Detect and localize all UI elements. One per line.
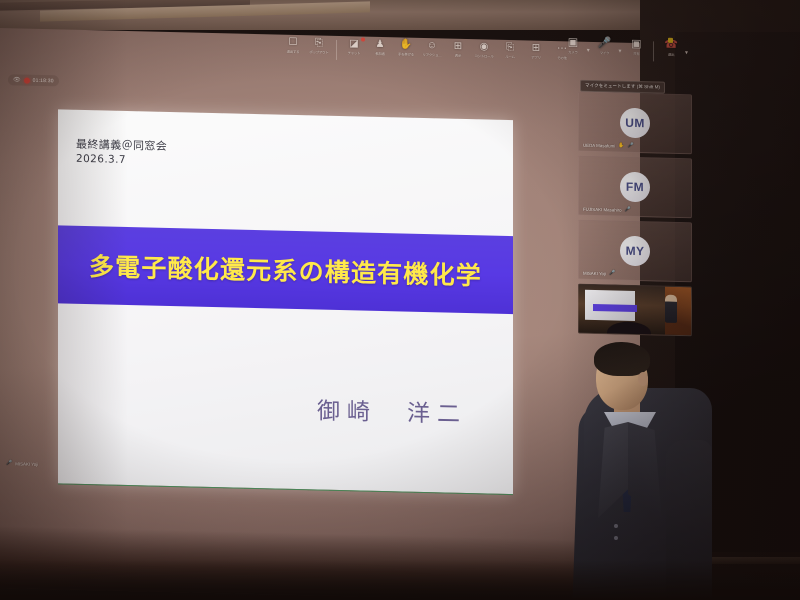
camera-icon: ▣ bbox=[568, 37, 578, 48]
mic-button[interactable]: 🎤 マイク bbox=[592, 38, 618, 69]
leave-call-label: 退出 bbox=[668, 53, 674, 57]
toolbar-divider-2 bbox=[653, 41, 654, 61]
room-screen-banner bbox=[593, 304, 637, 312]
mic-muted-icon: 🎤 bbox=[627, 143, 633, 149]
avatar: FM bbox=[620, 172, 650, 203]
participant-name-row: UEDA Masafumi ✋ 🎤 bbox=[583, 142, 634, 149]
apps-button[interactable]: ⊞ アプリ bbox=[523, 42, 549, 75]
toolbar-group-center[interactable]: ◪ チャット ♟ 参加者 ✋ 手を挙げる ☺ リアクショ… ⊞ 表示 bbox=[341, 38, 575, 76]
raise-hand-icon: ✋ bbox=[400, 39, 412, 50]
participant-tile-fujisaki[interactable]: FM FUJISAKI Masahiro 🎤 bbox=[578, 156, 692, 219]
mic-chevron-down-icon[interactable]: ▼ bbox=[618, 49, 623, 55]
people-icon: ♟ bbox=[376, 39, 385, 50]
presenter-button-upper bbox=[614, 524, 618, 528]
avatar: MY bbox=[620, 236, 650, 267]
participant-tile-ueda[interactable]: UM UEDA Masafumi ✋ 🎤 bbox=[578, 92, 692, 155]
apps-label: アプリ bbox=[531, 56, 541, 60]
shared-content-stage: 最終講義＠同窓会 2026.3.7 多電子酸化還元系の構造有機化学 御崎 洋二 bbox=[58, 109, 513, 495]
meeting-timer: 01:18:30 bbox=[33, 77, 54, 83]
participant-name: FUJISAKI Masahiro bbox=[583, 206, 622, 212]
slide-title: 多電子酸化還元系の構造有機化学 bbox=[89, 247, 482, 292]
leave-room-label: 退出する bbox=[287, 50, 300, 54]
slide-kicker: 最終講義＠同窓会 bbox=[76, 136, 167, 154]
apps-icon: ⊞ bbox=[532, 43, 540, 54]
share-button[interactable]: ▣ 共有 bbox=[623, 39, 649, 70]
rooms-icon: ⎘ bbox=[506, 42, 514, 53]
record-dot-icon bbox=[24, 77, 30, 83]
photo-bottom-shade bbox=[0, 560, 800, 600]
popout-button[interactable]: ⎘ ポップアウト bbox=[306, 37, 332, 70]
lecture-hall-photo: 👁 01:18:30 ☐ 退出する ⎘ ポップアウト ◪ bbox=[0, 0, 800, 600]
view-grid-icon: ⊞ bbox=[454, 41, 462, 52]
slide-date: 2026.3.7 bbox=[76, 153, 126, 166]
slide-presenter-name: 御崎 洋二 bbox=[317, 391, 467, 429]
leave-call-button[interactable]: ☎ 退出 bbox=[658, 40, 684, 71]
toolbar-group-left[interactable]: ☐ 退出する ⎘ ポップアウト bbox=[280, 37, 332, 70]
share-icon: ▣ bbox=[631, 39, 641, 50]
leave-room-button[interactable]: ☐ 退出する bbox=[280, 37, 306, 70]
presentation-slide: 最終講義＠同窓会 2026.3.7 多電子酸化還元系の構造有機化学 御崎 洋二 bbox=[58, 109, 513, 495]
participants-button[interactable]: ♟ 参加者 bbox=[367, 39, 393, 72]
chat-label: チャット bbox=[348, 51, 361, 55]
participant-name-row: FUJISAKI Masahiro 🎤 bbox=[583, 206, 631, 213]
leave-room-icon: ☐ bbox=[289, 37, 298, 48]
camera-chevron-down-icon[interactable]: ▼ bbox=[586, 48, 591, 54]
rooms-label: ルーム bbox=[505, 55, 514, 59]
participants-label: 参加者 bbox=[375, 52, 385, 56]
share-presenter-name: MISAKI Yoji bbox=[15, 461, 38, 467]
room-screen bbox=[585, 290, 635, 321]
chat-button[interactable]: ◪ チャット bbox=[341, 38, 367, 71]
share-label: 共有 bbox=[633, 52, 639, 56]
recording-indicator: 👁 01:18:30 bbox=[8, 74, 59, 86]
mic-muted-icon: 🎤 bbox=[609, 270, 615, 276]
reactions-label: リアクショ… bbox=[423, 53, 442, 57]
meeting-toolbar-right[interactable]: ▣ カメラ ▼ 🎤 マイク ▼ ▣ 共有 ☎ 退出 ▼ bbox=[560, 37, 690, 76]
control-label: コントロール bbox=[474, 54, 493, 58]
presenter-hair bbox=[594, 342, 650, 376]
participant-tile-misaki[interactable]: MY MISAKI Yoji 🎤 bbox=[578, 220, 692, 283]
mic-muted-icon: 🎤 bbox=[6, 460, 12, 466]
room-camera-tile[interactable] bbox=[578, 284, 692, 337]
leave-chevron-down-icon[interactable]: ▼ bbox=[684, 50, 689, 56]
toolbar-divider-1 bbox=[336, 40, 337, 60]
view-button[interactable]: ⊞ 表示 bbox=[445, 40, 471, 73]
control-button[interactable]: ◉ コントロール bbox=[471, 41, 497, 74]
raise-hand-icon: ✋ bbox=[618, 143, 624, 149]
view-label: 表示 bbox=[455, 54, 461, 58]
rooms-button[interactable]: ⎘ ルーム bbox=[497, 42, 523, 75]
participant-name: UEDA Masafumi bbox=[583, 142, 615, 148]
reactions-button[interactable]: ☺ リアクショ… bbox=[419, 40, 445, 73]
popout-label: ポップアウト bbox=[309, 50, 328, 54]
presenter-ear bbox=[638, 372, 648, 386]
chat-badge-icon bbox=[361, 38, 365, 42]
popout-icon: ⎘ bbox=[315, 37, 323, 48]
share-presenter-label: 🎤 MISAKI Yoji bbox=[6, 460, 38, 467]
mic-label: マイク bbox=[600, 51, 610, 55]
control-icon: ◉ bbox=[480, 41, 489, 52]
avatar: UM bbox=[620, 108, 650, 139]
raise-hand-button[interactable]: ✋ 手を挙げる bbox=[393, 39, 419, 72]
camera-button[interactable]: ▣ カメラ bbox=[560, 37, 586, 68]
raise-hand-label: 手を挙げる bbox=[398, 52, 414, 56]
participant-name: MISAKI Yoji bbox=[583, 270, 606, 276]
chat-icon: ◪ bbox=[349, 38, 358, 49]
participant-name-row: MISAKI Yoji 🎤 bbox=[583, 270, 615, 277]
slide-title-banner: 多電子酸化還元系の構造有機化学 bbox=[58, 225, 513, 314]
mic-muted-icon: 🎤 bbox=[625, 207, 631, 213]
eye-icon: 👁 bbox=[13, 76, 21, 83]
mic-icon: 🎤 bbox=[598, 38, 612, 49]
camera-label: カメラ bbox=[568, 50, 578, 54]
presenter-button-lower bbox=[614, 536, 618, 540]
room-speaker-figure bbox=[665, 295, 677, 323]
reactions-icon: ☺ bbox=[427, 40, 437, 51]
notification-badge-icon bbox=[668, 38, 673, 43]
